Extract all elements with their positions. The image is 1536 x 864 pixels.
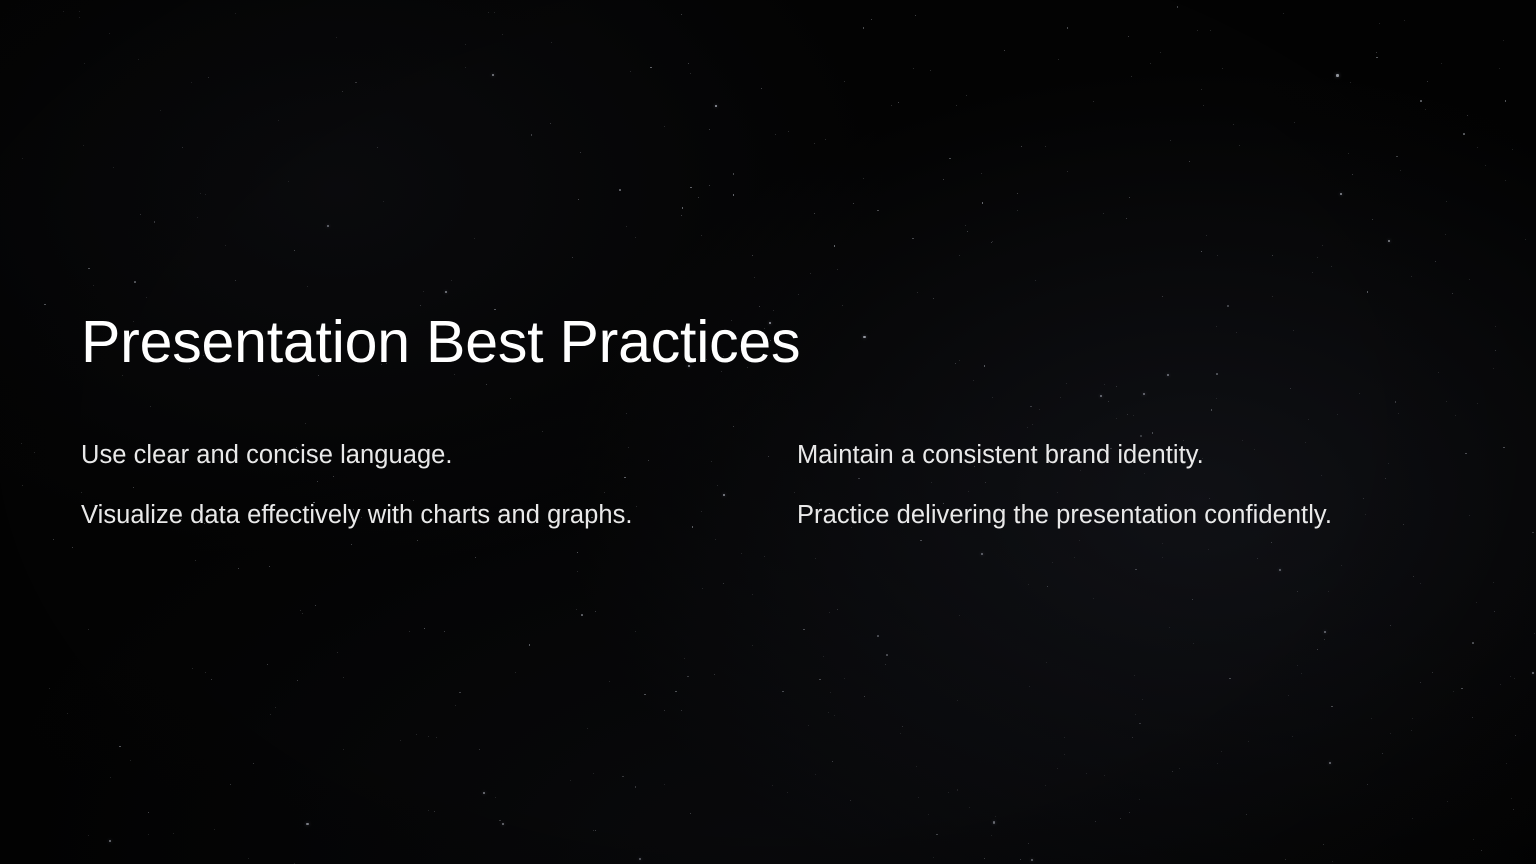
body-columns: Use clear and concise language. Visualiz… [81, 443, 1461, 528]
presentation-slide: Presentation Best Practices Use clear an… [0, 0, 1536, 864]
bullet-line: Maintain a consistent brand identity. [797, 443, 1461, 469]
bullet-line: Visualize data effectively with charts a… [81, 503, 797, 529]
slide-title: Presentation Best Practices [81, 310, 800, 375]
bullet-line: Practice delivering the presentation con… [797, 503, 1461, 529]
body-column-left: Use clear and concise language. Visualiz… [81, 443, 797, 528]
slide-content: Presentation Best Practices Use clear an… [0, 0, 1536, 864]
bullet-line: Use clear and concise language. [81, 443, 797, 469]
body-column-right: Maintain a consistent brand identity. Pr… [797, 443, 1461, 528]
